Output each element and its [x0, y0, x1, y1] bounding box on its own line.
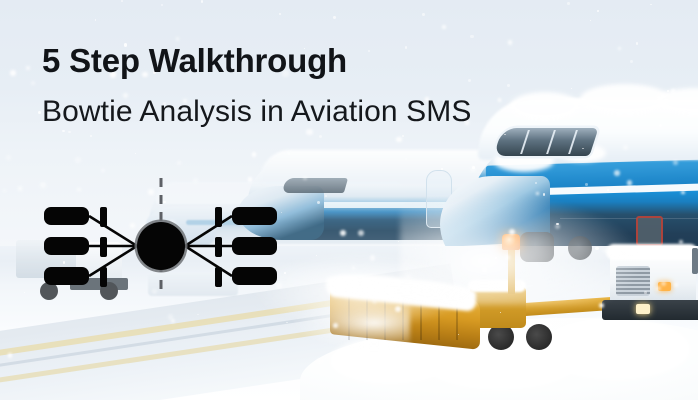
service-truck-left: [16, 238, 136, 310]
banner-image: 5 Step Walkthrough Bowtie Analysis in Av…: [0, 0, 698, 400]
page-title: 5 Step Walkthrough: [42, 44, 347, 77]
cockpit-windows: [493, 128, 598, 156]
blowing-snow-mist: [250, 250, 470, 330]
service-vehicle-midground: [148, 268, 238, 302]
headlight: [636, 304, 650, 314]
page-subtitle: Bowtie Analysis in Aviation SMS: [42, 97, 471, 127]
